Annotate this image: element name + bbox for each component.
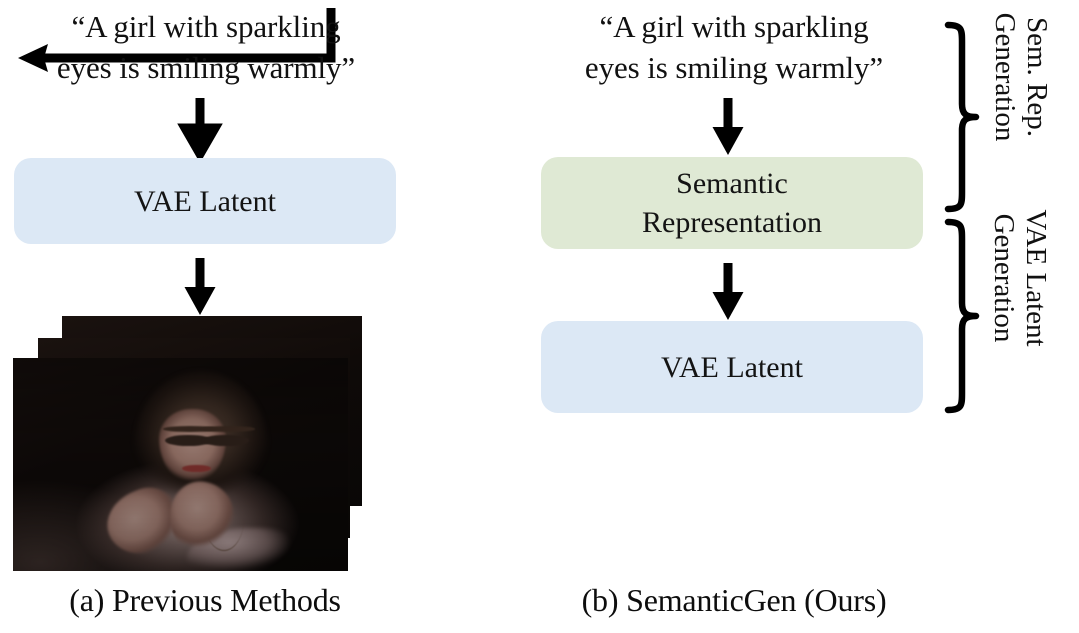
down-arrow-icon (700, 263, 756, 321)
annotation-label-sem-rep-generation: Sem. Rep. Generation (983, 0, 1053, 173)
curly-brace-icon (946, 219, 980, 413)
vae-latent-box-left: VAE Latent (14, 158, 396, 244)
semantic-representation-label: Semantic Representation (642, 164, 822, 242)
prompt-text-right: “A girl with sparkling eyes is smiling w… (536, 6, 932, 88)
semantic-representation-box: Semantic Representation (541, 157, 923, 249)
annotation-label-vae-latent-generation: VAE Latent Generation (982, 183, 1052, 373)
frame-vignette (13, 358, 348, 571)
caption-semanticgen: (b) SemanticGen (Ours) (528, 582, 940, 619)
vae-latent-label-left: VAE Latent (134, 182, 276, 221)
caption-previous-methods: (a) Previous Methods (0, 582, 410, 619)
figure-canvas: “A girl with sparkling eyes is smiling w… (0, 0, 1079, 633)
vae-latent-box-right: VAE Latent (541, 321, 923, 413)
video-frame-stack (0, 310, 400, 575)
video-frame-front (13, 358, 348, 571)
prompt-text-left: “A girl with sparkling eyes is smiling w… (8, 6, 404, 88)
down-arrow-icon (172, 98, 228, 156)
curly-brace-icon (946, 22, 980, 212)
down-arrow-icon (172, 258, 228, 316)
vae-latent-label-right: VAE Latent (661, 348, 803, 387)
down-arrow-icon (700, 98, 756, 156)
